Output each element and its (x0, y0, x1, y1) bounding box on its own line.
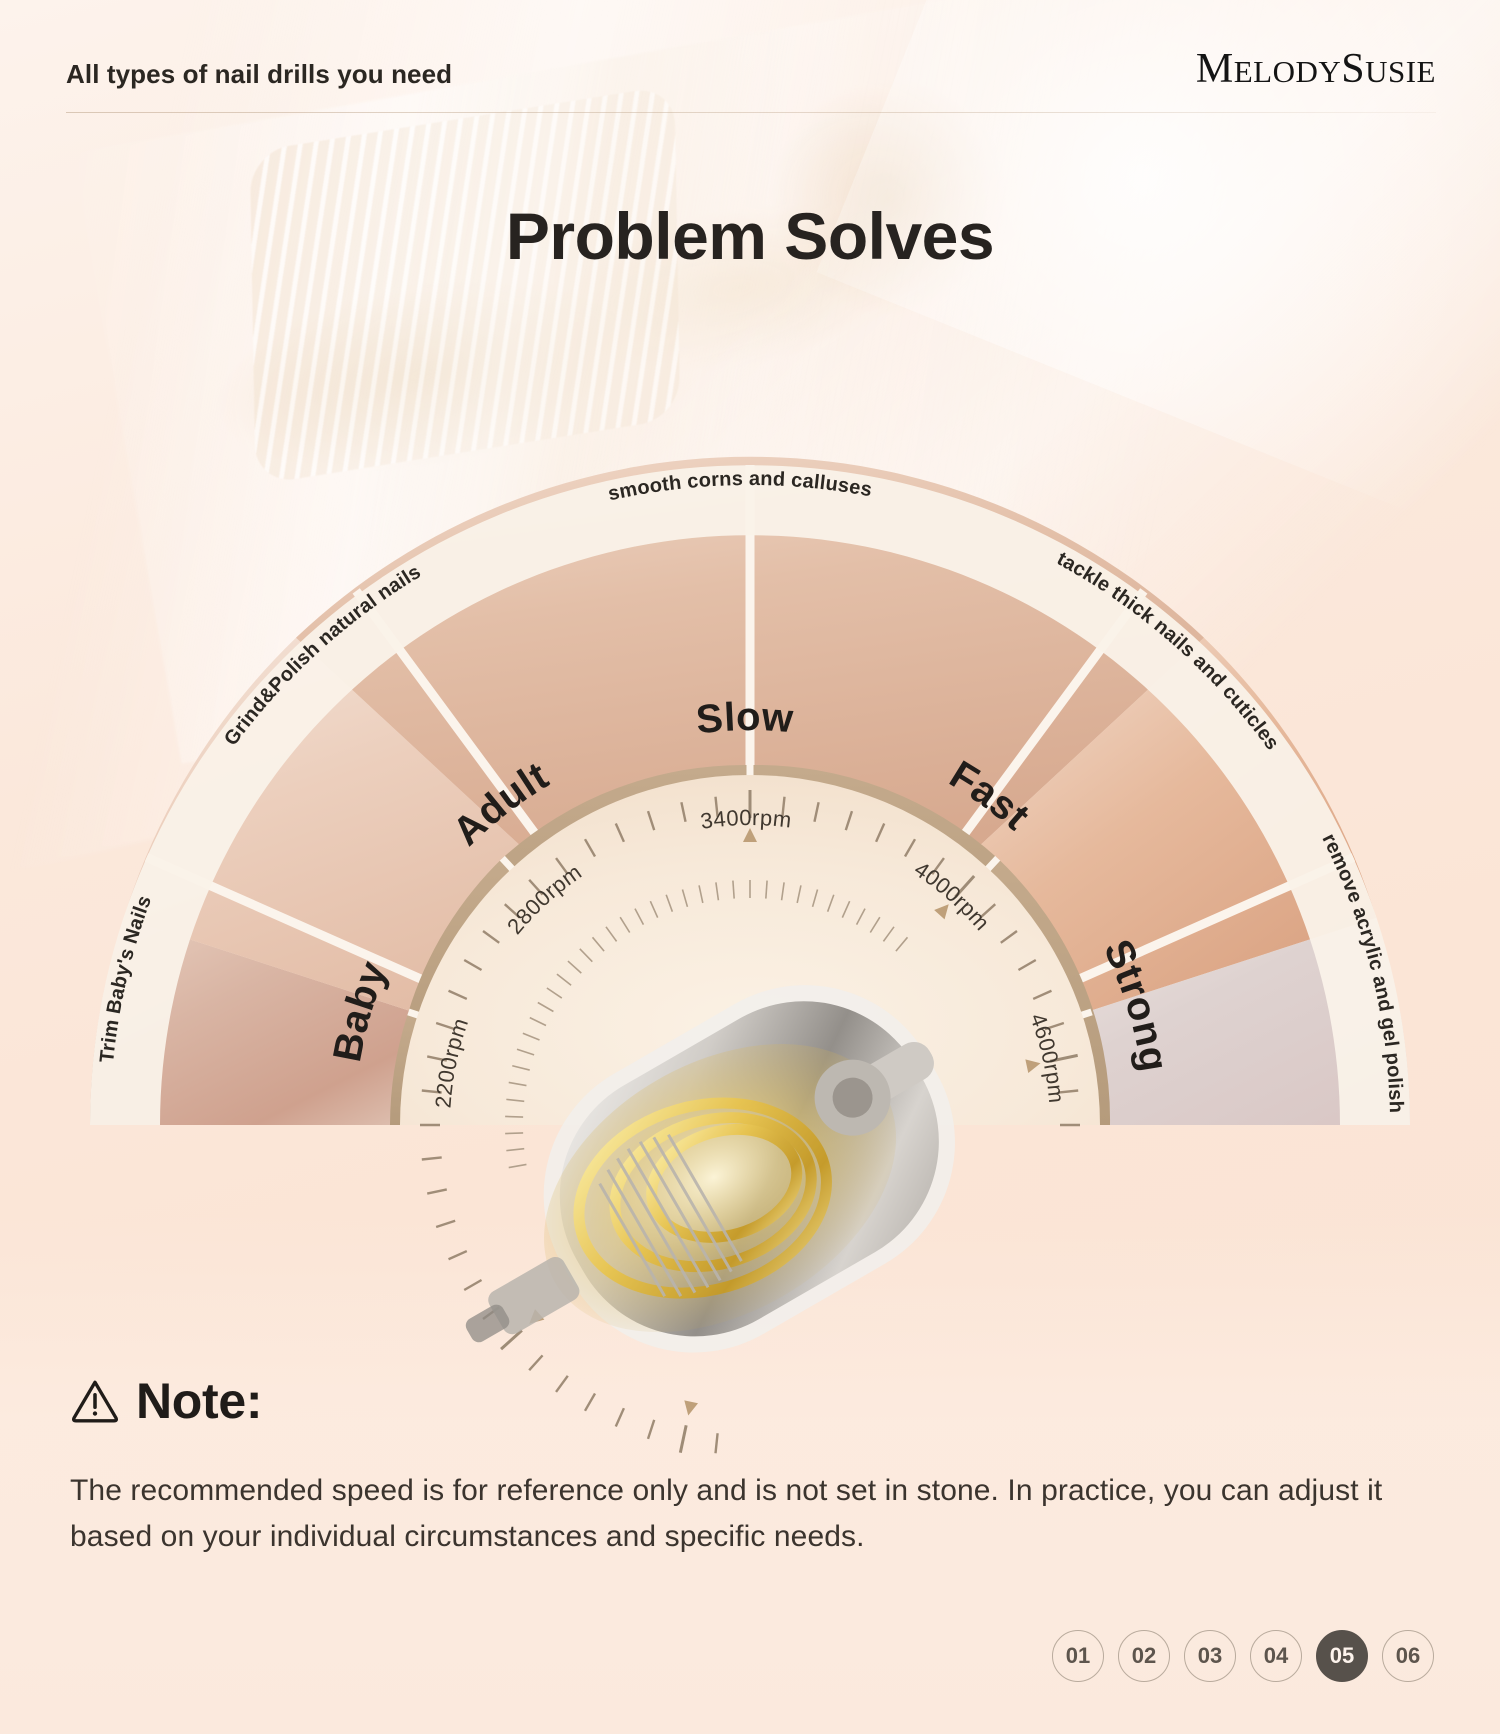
page-indicator: 01 02 03 04 05 06 (1052, 1630, 1434, 1682)
brand-logo-m: M (1196, 46, 1234, 92)
header-divider (66, 112, 1436, 113)
pager-dot-04[interactable]: 04 (1250, 1630, 1302, 1682)
brand-logo-elody: ELODY (1234, 54, 1342, 89)
pager-dot-01[interactable]: 01 (1052, 1630, 1104, 1682)
slide-canvas: All types of nail drills you need MELODY… (0, 0, 1500, 1734)
pager-dot-02[interactable]: 02 (1118, 1630, 1170, 1682)
page-title: Problem Solves (0, 198, 1500, 274)
brand-logo-s: S (1341, 46, 1365, 92)
brand-logo-usie: USIE (1365, 54, 1436, 89)
pager-dot-05[interactable]: 05 (1316, 1630, 1368, 1682)
note-heading: Note: (136, 1372, 262, 1430)
brand-logo: MELODYSUSIE (1196, 48, 1436, 90)
note-section: Note: The recommended speed is for refer… (70, 1372, 1430, 1559)
note-heading-row: Note: (70, 1372, 1430, 1430)
pager-dot-03[interactable]: 03 (1184, 1630, 1236, 1682)
ring-label-slow: Slow (694, 695, 795, 742)
page-header: All types of nail drills you need MELODY… (66, 48, 1436, 90)
note-body-text: The recommended speed is for reference o… (70, 1468, 1410, 1559)
header-tagline: All types of nail drills you need (66, 59, 452, 90)
rpm-label-3400: 3400rpm (699, 805, 793, 834)
pager-dot-06[interactable]: 06 (1382, 1630, 1434, 1682)
warning-triangle-icon (70, 1376, 120, 1426)
